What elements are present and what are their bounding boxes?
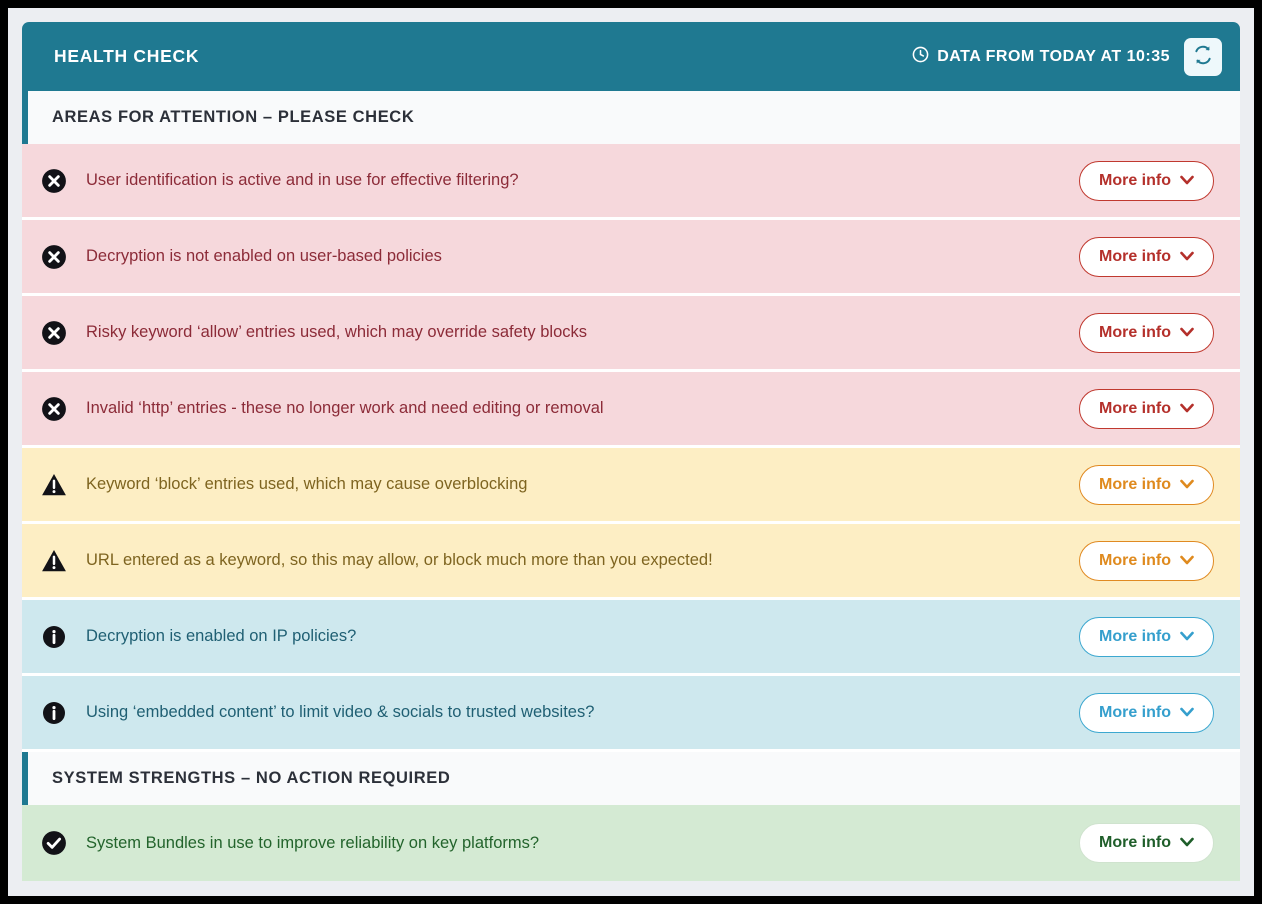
health-check-card: HEALTH CHECK DATA FROM TODAY AT 10:35 (22, 22, 1240, 881)
error-x-icon (22, 168, 86, 194)
row-label: Risky keyword ‘allow’ entries used, whic… (86, 323, 1079, 342)
chevron-down-icon (1180, 172, 1194, 190)
more-info-label: More info (1099, 248, 1171, 266)
table-row[interactable]: Risky keyword ‘allow’ entries used, whic… (22, 296, 1240, 372)
table-row[interactable]: System Bundles in use to improve reliabi… (22, 805, 1240, 881)
info-circle-icon (22, 701, 86, 725)
error-x-icon (22, 396, 86, 422)
warning-triangle-icon (22, 472, 86, 498)
table-row[interactable]: URL entered as a keyword, so this may al… (22, 524, 1240, 600)
more-info-button[interactable]: More info (1079, 237, 1214, 277)
more-info-button[interactable]: More info (1079, 465, 1214, 505)
row-label: Decryption is not enabled on user-based … (86, 247, 1079, 266)
more-info-label: More info (1099, 704, 1171, 722)
section-header-system-strengths: SYSTEM STRENGTHS – NO ACTION REQUIRED (22, 752, 1240, 805)
more-info-label: More info (1099, 476, 1171, 494)
warning-triangle-icon (22, 548, 86, 574)
more-info-button[interactable]: More info (1079, 541, 1214, 581)
table-row[interactable]: Using ‘embedded content’ to limit video … (22, 676, 1240, 752)
more-info-button[interactable]: More info (1079, 617, 1214, 657)
chevron-down-icon (1180, 248, 1194, 266)
section-title: SYSTEM STRENGTHS – NO ACTION REQUIRED (52, 769, 450, 788)
table-row[interactable]: Decryption is enabled on IP policies? Mo… (22, 600, 1240, 676)
error-x-icon (22, 320, 86, 346)
row-label: URL entered as a keyword, so this may al… (86, 551, 1079, 570)
section-title: AREAS FOR ATTENTION – PLEASE CHECK (52, 108, 414, 127)
info-circle-icon (22, 625, 86, 649)
timestamp-label: DATA FROM TODAY AT 10:35 (937, 48, 1170, 66)
refresh-icon (1193, 45, 1213, 68)
sections-container: AREAS FOR ATTENTION – PLEASE CHECK User … (22, 91, 1240, 881)
table-row[interactable]: Invalid ‘http’ entries - these no longer… (22, 372, 1240, 448)
section-header-areas-for-attention: AREAS FOR ATTENTION – PLEASE CHECK (22, 91, 1240, 144)
more-info-button[interactable]: More info (1079, 161, 1214, 201)
table-row[interactable]: Decryption is not enabled on user-based … (22, 220, 1240, 296)
header-actions: DATA FROM TODAY AT 10:35 (912, 38, 1222, 76)
more-info-label: More info (1099, 552, 1171, 570)
chevron-down-icon (1180, 324, 1194, 342)
more-info-label: More info (1099, 400, 1171, 418)
chevron-down-icon (1180, 476, 1194, 494)
data-timestamp: DATA FROM TODAY AT 10:35 (912, 46, 1170, 68)
table-row[interactable]: User identification is active and in use… (22, 144, 1240, 220)
row-label: Using ‘embedded content’ to limit video … (86, 703, 1079, 722)
page-title: HEALTH CHECK (54, 46, 199, 67)
row-label: Decryption is enabled on IP policies? (86, 627, 1079, 646)
row-label: Invalid ‘http’ entries - these no longer… (86, 399, 1079, 418)
error-x-icon (22, 244, 86, 270)
row-label: Keyword ‘block’ entries used, which may … (86, 475, 1079, 494)
page-surface: HEALTH CHECK DATA FROM TODAY AT 10:35 (8, 8, 1254, 896)
chevron-down-icon (1180, 704, 1194, 722)
chevron-down-icon (1180, 834, 1194, 852)
row-label: System Bundles in use to improve reliabi… (86, 834, 1079, 853)
more-info-label: More info (1099, 172, 1171, 190)
chevron-down-icon (1180, 628, 1194, 646)
more-info-button[interactable]: More info (1079, 823, 1214, 863)
chevron-down-icon (1180, 552, 1194, 570)
more-info-button[interactable]: More info (1079, 389, 1214, 429)
chevron-down-icon (1180, 400, 1194, 418)
row-label: User identification is active and in use… (86, 171, 1079, 190)
table-row[interactable]: Keyword ‘block’ entries used, which may … (22, 448, 1240, 524)
more-info-label: More info (1099, 324, 1171, 342)
card-header: HEALTH CHECK DATA FROM TODAY AT 10:35 (22, 22, 1240, 91)
more-info-button[interactable]: More info (1079, 313, 1214, 353)
check-circle-icon (22, 830, 86, 856)
more-info-label: More info (1099, 628, 1171, 646)
clock-icon (912, 46, 929, 68)
more-info-label: More info (1099, 834, 1171, 852)
refresh-button[interactable] (1184, 38, 1222, 76)
more-info-button[interactable]: More info (1079, 693, 1214, 733)
